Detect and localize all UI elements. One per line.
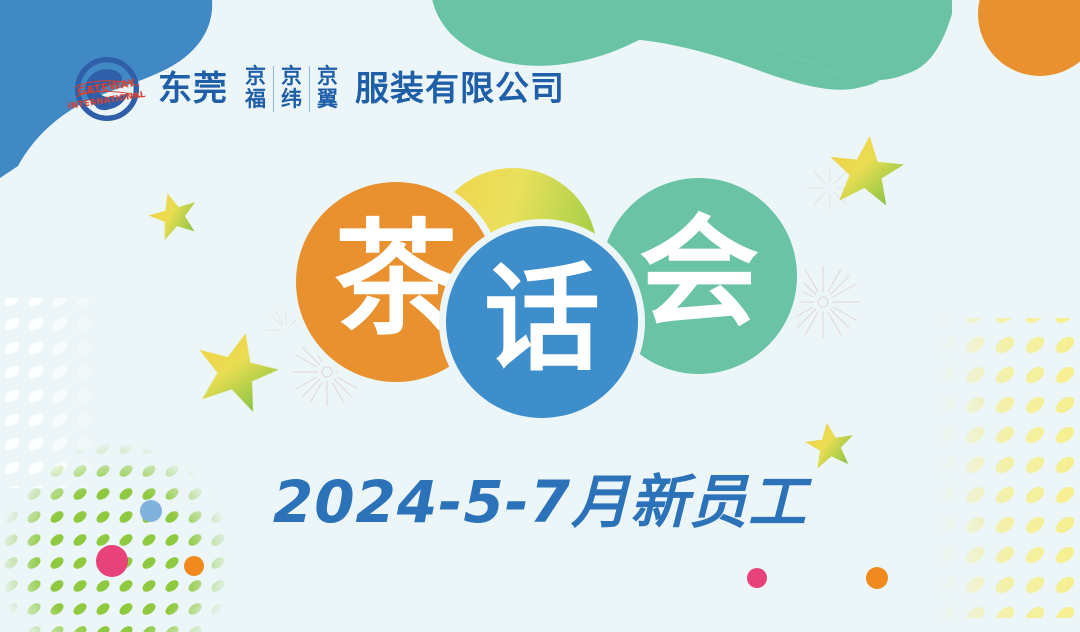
- title-bubble-group: 茶 会 话: [296, 168, 816, 436]
- dot-pink-right: [747, 568, 767, 588]
- brand-stack-2-bottom: 纬: [281, 89, 302, 112]
- poster-canvas: GATEWAY INTERNATIONAL 东莞 京 福 京 纬 京 翼 服装有…: [0, 0, 1080, 632]
- title-bubble-hua: 话: [446, 226, 638, 418]
- dot-pink-left: [96, 545, 128, 577]
- title-char-hui: 会: [639, 214, 759, 334]
- title-char-hua: 话: [484, 262, 600, 378]
- company-name-suffix: 服装有限公司: [355, 72, 565, 106]
- brand-stack-3: 京 翼: [309, 66, 345, 111]
- brand-stack-2-top: 京: [281, 66, 302, 89]
- dot-orange-right: [866, 567, 888, 589]
- brand-stack-1-top: 京: [245, 66, 266, 89]
- subtitle-text: 2024-5-7月新员工: [0, 455, 1080, 539]
- globe-logo-icon: GATEWAY INTERNATIONAL: [68, 52, 146, 126]
- brand-stack-2: 京 纬: [273, 66, 309, 111]
- brand-stack-3-bottom: 翼: [317, 89, 338, 112]
- company-brand-stack: 京 福 京 纬 京 翼: [238, 66, 345, 111]
- brand-stack-1: 京 福: [238, 66, 273, 111]
- dot-orange-left: [184, 556, 204, 576]
- brand-stack-1-bottom: 福: [245, 89, 266, 112]
- company-name: 东莞 京 福 京 纬 京 翼 服装有限公司: [158, 66, 565, 111]
- brand-header: GATEWAY INTERNATIONAL 东莞 京 福 京 纬 京 翼 服装有…: [68, 52, 565, 126]
- company-name-prefix: 东莞: [158, 72, 228, 106]
- title-char-cha: 茶: [334, 218, 458, 342]
- brand-stack-3-top: 京: [317, 66, 338, 89]
